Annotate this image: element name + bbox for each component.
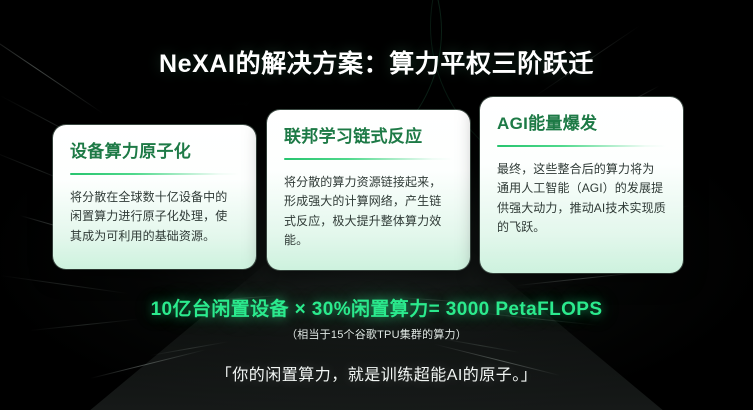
card-title: 联邦学习链式反应 xyxy=(284,128,453,147)
card-body: 将分散的算力资源链接起来，形成强大的计算网络，产生链式反应，极大提升整体算力效能… xyxy=(284,173,453,251)
card-title: AGI能量爆发 xyxy=(497,115,666,134)
card-divider xyxy=(70,173,239,175)
card-title: 设备算力原子化 xyxy=(70,143,239,162)
formula-note: （相当于15个谷歌TPU集群的算力） xyxy=(0,326,753,342)
slide-root: NeXAI的解决方案：算力平权三阶跃迁 设备算力原子化 将分散在全球数十亿设备中… xyxy=(0,0,753,410)
closing-quote: 「你的闲置算力，就是训练超能AI的原子。」 xyxy=(0,361,753,385)
card-device-atomization: 设备算力原子化 将分散在全球数十亿设备中的闲置算力进行原子化处理，使其成为可利用… xyxy=(53,125,256,269)
card-divider xyxy=(497,145,666,147)
card-federated-learning: 联邦学习链式反应 将分散的算力资源链接起来，形成强大的计算网络，产生链式反应，极… xyxy=(267,110,470,270)
card-agi-explosion: AGI能量爆发 最终，这些整合后的算力将为通用人工智能（AGI）的发展提供强大动… xyxy=(480,97,683,273)
card-body: 将分散在全球数十亿设备中的闲置算力进行原子化处理，使其成为可利用的基础资源。 xyxy=(70,188,239,246)
page-title: NeXAI的解决方案：算力平权三阶跃迁 xyxy=(0,44,753,80)
formula-headline: 10亿台闲置设备 × 30%闲置算力= 3000 PetaFLOPS xyxy=(0,294,753,321)
card-divider xyxy=(284,158,453,160)
card-body: 最终，这些整合后的算力将为通用人工智能（AGI）的发展提供强大动力，推动AI技术… xyxy=(497,160,666,238)
